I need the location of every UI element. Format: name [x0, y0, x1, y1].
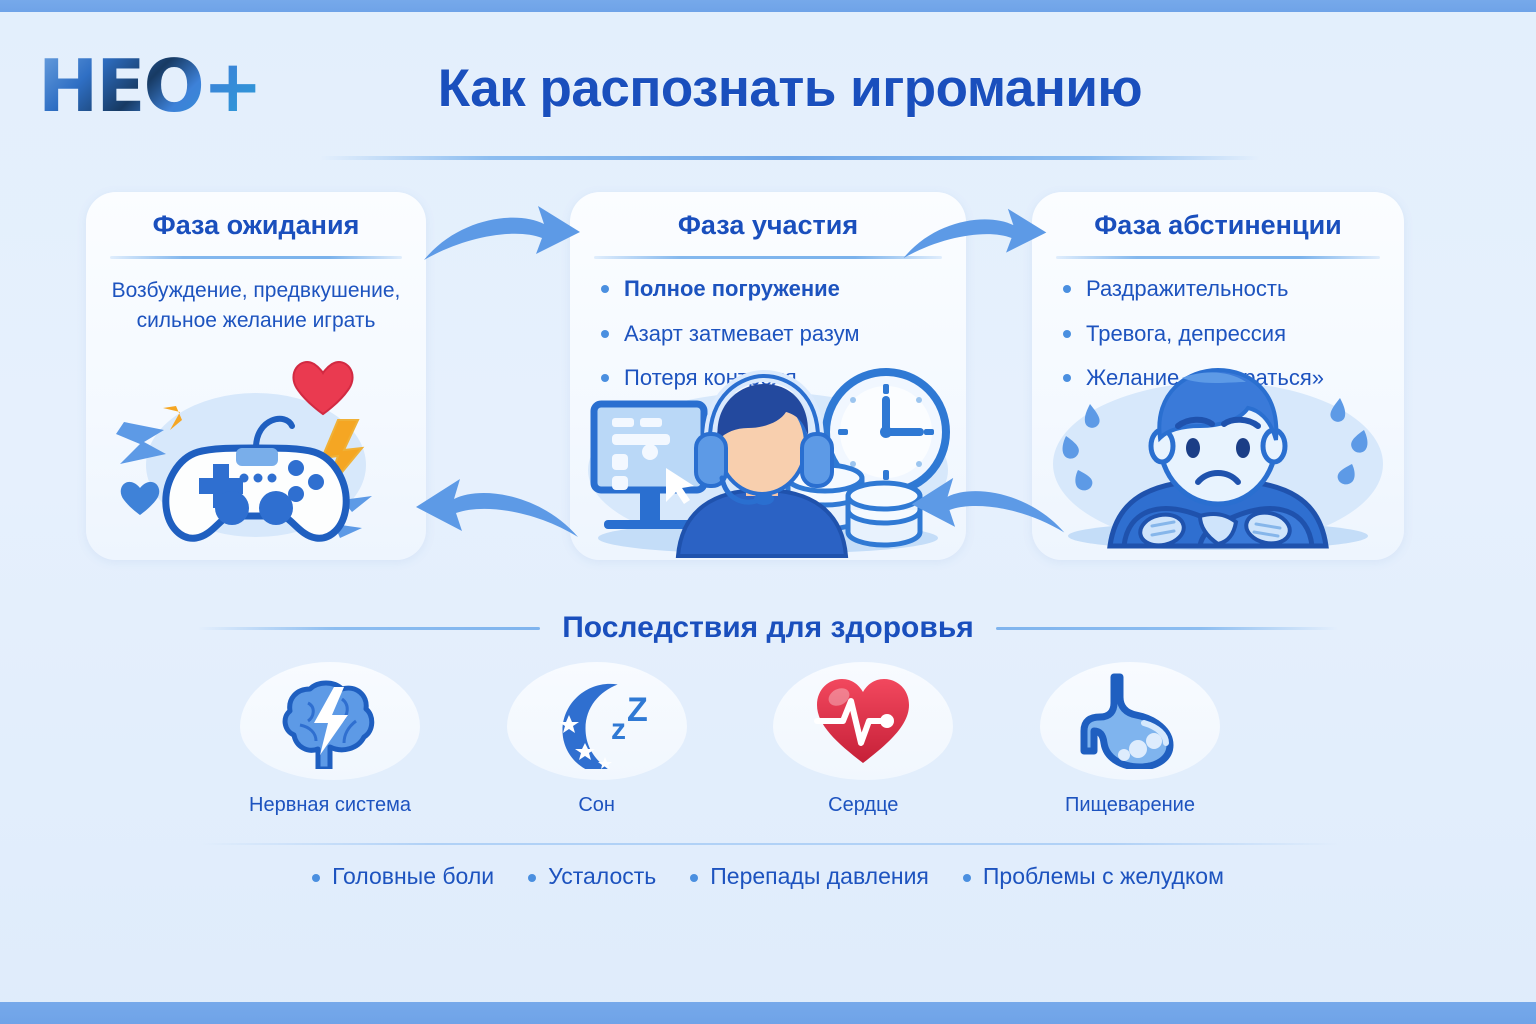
health-item-digestion[interactable]: Пищеварение	[1030, 662, 1230, 817]
phase-card-title: Фаза абстиненции	[1032, 210, 1404, 241]
list-item: Раздражительность	[1060, 274, 1390, 304]
phase-card-expectation[interactable]: Фаза ожидания Возбуждение, предвкушение,…	[86, 192, 426, 560]
health-item-label: Сердце	[763, 794, 963, 817]
health-item-label: Нервная система	[230, 794, 430, 817]
svg-text:z: z	[611, 713, 626, 746]
gamer-headset-clock-coins-illustration	[570, 360, 966, 560]
icon-blob: z Z	[507, 662, 687, 780]
moon-zzz-icon: z Z	[545, 673, 649, 769]
health-item-nervous-system[interactable]: Нервная система	[230, 662, 430, 817]
health-item-heart[interactable]: Сердце	[763, 662, 963, 817]
symptom-tag: Усталость	[528, 863, 656, 890]
page-title: Как распознать игроманию	[355, 58, 1225, 119]
section-rule-right	[996, 627, 1338, 630]
title-underline-rule	[320, 156, 1260, 160]
section-heading: Последствия для здоровья	[562, 611, 974, 645]
brand-logo: НЕО+	[38, 50, 261, 122]
health-item-label: Пищеварение	[1030, 794, 1230, 817]
phase-card-description: Возбуждение, предвкушение, сильное желан…	[100, 276, 412, 337]
card-divider	[594, 256, 942, 259]
list-item: Азарт затмевает разум	[598, 319, 952, 349]
health-item-label: Сон	[497, 794, 697, 817]
card-divider	[1056, 256, 1380, 259]
phase-card-title: Фаза ожидания	[86, 210, 426, 241]
arrow-left-icon	[412, 475, 584, 554]
symptom-tag: Проблемы с желудком	[963, 863, 1224, 890]
icon-blob	[773, 662, 953, 780]
section-heading-row: Последствия для здоровья	[198, 600, 1338, 656]
brain-lightning-icon	[280, 673, 380, 769]
infographic-canvas: НЕО+ Как распознать игроманию Фаза ожида…	[0, 0, 1536, 1024]
arrow-left-icon	[908, 472, 1070, 551]
symptom-tag: Перепады давления	[690, 863, 929, 890]
svg-text:Z: Z	[627, 691, 648, 729]
symptom-tag: Головные боли	[312, 863, 494, 890]
card-divider	[110, 256, 402, 259]
stomach-icon	[1080, 673, 1180, 769]
gamepad-heart-illustration	[86, 360, 426, 560]
header: НЕО+ Как распознать игроманию	[0, 28, 1536, 138]
top-border-band	[0, 0, 1536, 12]
heart-pulse-icon	[811, 673, 915, 769]
list-item: Тревога, депрессия	[1060, 319, 1390, 349]
sad-person-illustration	[1032, 360, 1404, 560]
section-rule-left	[198, 627, 540, 630]
icon-blob	[240, 662, 420, 780]
icon-blob	[1040, 662, 1220, 780]
health-icon-row: Нервная система z Z Сон	[230, 662, 1230, 817]
tags-divider	[200, 843, 1340, 845]
health-item-sleep[interactable]: z Z Сон	[497, 662, 697, 817]
arrow-right-icon	[418, 202, 584, 279]
bottom-border-band	[0, 1002, 1536, 1024]
arrow-right-icon	[898, 202, 1050, 279]
phase-card-withdrawal[interactable]: Фаза абстиненции Раздражительность Трево…	[1032, 192, 1404, 560]
symptom-tag-row: Головные боли Усталость Перепады давлени…	[0, 863, 1536, 890]
